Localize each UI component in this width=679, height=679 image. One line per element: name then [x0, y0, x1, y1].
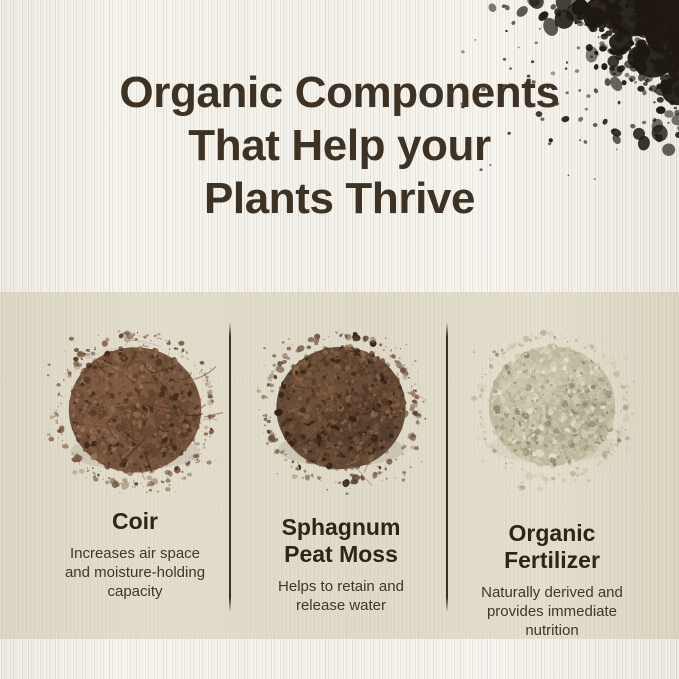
poster-canvas: Organic Components That Help your Plants… — [0, 0, 679, 679]
headline-line-2: That Help your — [0, 119, 679, 172]
organic-fertilizer-title: Organic Fertilizer — [447, 520, 657, 574]
organic-fertilizer-title-line-1: Organic — [447, 520, 657, 547]
component-column-coir: Coir Increases air space and moisture-ho… — [30, 330, 240, 601]
headline-line-3: Plants Thrive — [0, 172, 679, 225]
coir-pile-wrap — [30, 330, 240, 500]
organic-fertilizer-desc-line-1: Naturally derived and — [459, 583, 645, 602]
coir-desc-line-3: capacity — [42, 582, 228, 601]
headline-line-1: Organic Components — [0, 66, 679, 119]
component-column-peat-moss: Sphagnum Peat Moss Helps to retain and r… — [236, 330, 446, 615]
organic-fertilizer-title-line-2: Fertilizer — [447, 547, 657, 574]
organic-fertilizer-description: Naturally derived and provides immediate… — [447, 583, 657, 640]
coir-description: Increases air space and moisture-holding… — [30, 544, 240, 601]
peat-moss-title-line-2: Peat Moss — [236, 541, 446, 568]
peat-moss-desc-line-1: Helps to retain and — [248, 577, 434, 596]
organic-fertilizer-desc-line-3: nutrition — [459, 621, 645, 640]
peat-moss-description: Helps to retain and release water — [236, 577, 446, 615]
peat-moss-pile — [255, 330, 427, 496]
component-column-organic-fertilizer: Organic Fertilizer Naturally derived and… — [447, 330, 657, 640]
coir-pile — [47, 330, 223, 500]
coir-desc-line-2: and moisture-holding — [42, 563, 228, 582]
page-title: Organic Components That Help your Plants… — [0, 66, 679, 225]
peat-moss-title-line-1: Sphagnum — [236, 514, 446, 541]
coir-desc-line-1: Increases air space — [42, 544, 228, 563]
bottom-wood-background — [0, 639, 679, 679]
peat-moss-desc-line-2: release water — [248, 596, 434, 615]
organic-fertilizer-desc-line-2: provides immediate — [459, 602, 645, 621]
organic-fertilizer-pile-wrap — [447, 330, 657, 514]
peat-moss-pile-wrap — [236, 330, 446, 508]
organic-fertilizer-pile — [468, 330, 636, 492]
coir-title-line-1: Coir — [30, 508, 240, 535]
coir-title: Coir — [30, 508, 240, 535]
peat-moss-title: Sphagnum Peat Moss — [236, 514, 446, 568]
